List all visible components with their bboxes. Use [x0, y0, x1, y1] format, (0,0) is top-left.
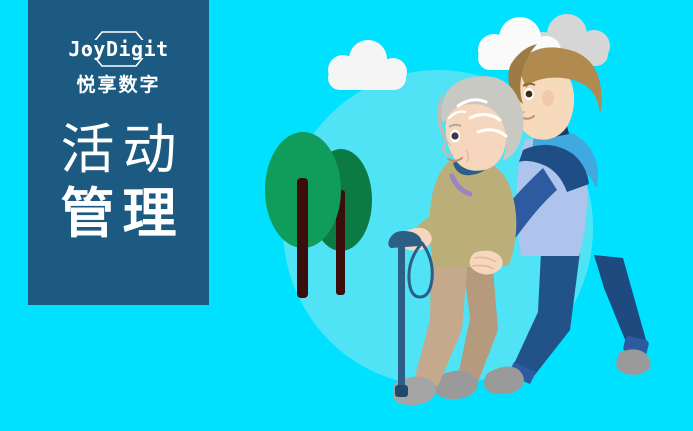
promo-banner: JoyDigit 悦享数字 活动 管理 [0, 0, 693, 431]
woman-pupil [451, 132, 458, 139]
logo-mark: JoyDigit [54, 26, 184, 72]
cane-shaft [398, 243, 405, 391]
headline-line-1: 活动 [53, 119, 185, 183]
logo-subtitle: 悦享数字 [76, 76, 160, 97]
title-panel: JoyDigit 悦享数字 活动 管理 [28, 0, 209, 305]
man-pupil [526, 91, 533, 98]
headline: 活动 管理 [53, 119, 185, 246]
man-ear [542, 90, 554, 106]
brand-logo: JoyDigit 悦享数字 [28, 26, 209, 97]
logo-wordmark: JoyDigit [54, 26, 184, 72]
headline-line-2: 管理 [53, 183, 185, 247]
cane-tip [395, 385, 408, 397]
